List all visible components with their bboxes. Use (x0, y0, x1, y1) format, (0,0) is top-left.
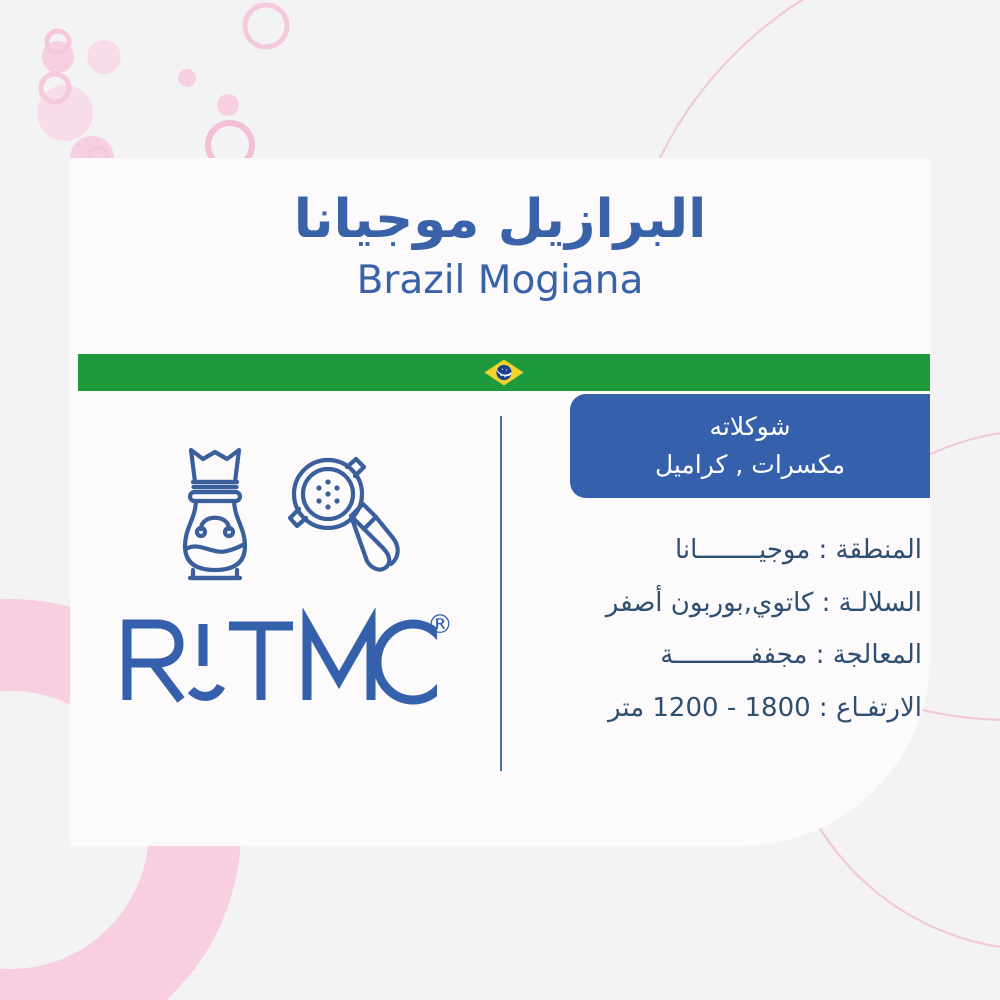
flavor-note-line-2: مكسرات , كراميل (655, 447, 845, 483)
flavor-note-line-1: شوكلاته (709, 409, 790, 445)
cupping-strainer-icon (281, 446, 403, 576)
column-divider (500, 416, 502, 771)
product-info-card: البرازيل موجيانا Brazil Mogiana (70, 158, 930, 846)
spec-row-process: المعالجة : مجففــــــــــة (510, 639, 930, 672)
spec-row-altitude: الارتفـاع : 1800 - 1200 متر (510, 692, 930, 725)
ritmo-wordmark (117, 608, 437, 706)
spec-row-region: المنطقة : موجيــــــــانا (510, 534, 930, 567)
left-column: ® (70, 416, 500, 816)
brew-method-icons (70, 436, 500, 586)
chemex-pourover-icon (167, 436, 263, 586)
pink-dot-cluster (37, 5, 287, 180)
page-title-arabic: البرازيل موجيانا (70, 190, 930, 251)
spec-row-variety: السلالـة : كاتوي,بوربون أصفر (510, 587, 930, 620)
registered-trademark-icon: ® (427, 612, 453, 638)
country-flag-band (78, 354, 930, 391)
spec-list: المنطقة : موجيــــــــانا السلالـة : كات… (510, 534, 930, 724)
title-block: البرازيل موجيانا Brazil Mogiana (70, 190, 930, 304)
flavor-notes-box: شوكلاته مكسرات , كراميل (570, 394, 930, 498)
brazil-flag-icon (481, 356, 527, 389)
brand-logo: ® (70, 608, 500, 706)
page-title-english: Brazil Mogiana (70, 259, 930, 304)
